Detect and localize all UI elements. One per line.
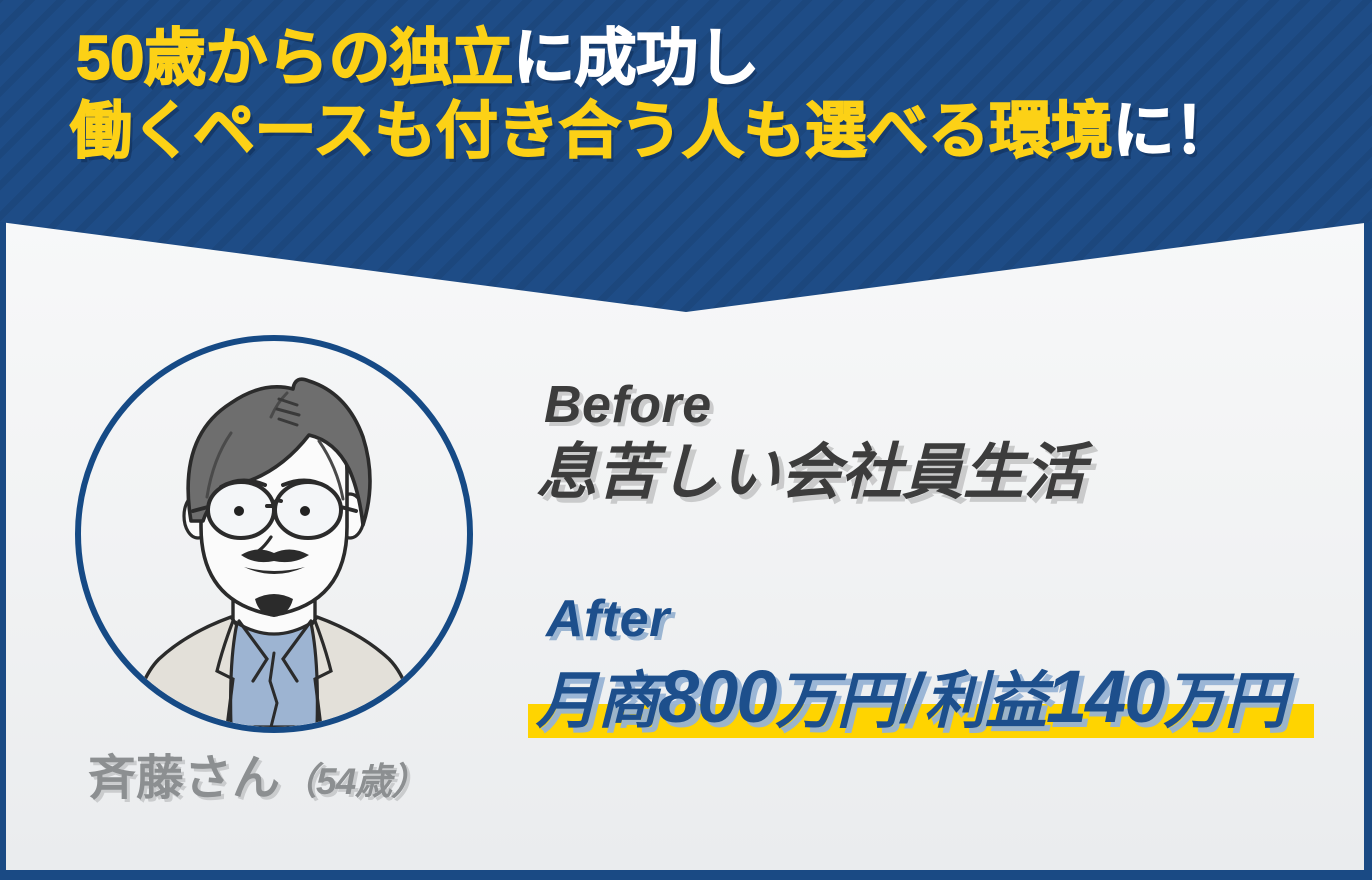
title-line-2: 働くペースも付き合う人も選べる環境に！ <box>70 95 1235 168</box>
page-title: 50歳からの独立に成功し 働くペースも付き合う人も選べる環境に！ <box>76 22 1235 168</box>
after-unit-2: 万円 <box>1163 667 1285 736</box>
after-prefix-2: 利益 <box>924 667 1046 736</box>
after-separator: / <box>898 659 924 737</box>
before-description: 息苦しい会社員生活 <box>536 437 1085 509</box>
after-block: After 月商800万円/利益140万円 <box>536 592 1285 740</box>
person-portrait-illustration <box>81 341 467 727</box>
avatar-circle-frame <box>75 335 473 733</box>
before-label: Before <box>536 378 1085 433</box>
after-value-1: 800 <box>658 655 775 738</box>
person-age-text: （54歳） <box>280 761 427 802</box>
title-line-2-highlight: 働くペースも付き合う人も選べる環境 <box>70 97 1112 166</box>
person-name-caption: 斉藤さん（54歳） <box>88 738 427 808</box>
after-figure-row: 月商800万円/利益140万円 <box>536 653 1285 740</box>
title-line-1-highlight: 50歳からの独立 <box>76 24 513 93</box>
title-line-1: 50歳からの独立に成功し <box>76 22 1235 95</box>
before-block: Before 息苦しい会社員生活 <box>536 378 1085 509</box>
person-name-text: 斉藤さん <box>88 752 280 805</box>
after-value-2: 140 <box>1046 655 1163 738</box>
after-unit-1: 万円 <box>775 667 897 736</box>
title-line-2-rest: に！ <box>1112 97 1235 166</box>
slide-root: 50歳からの独立に成功し 働くペースも付き合う人も選べる環境に！ <box>0 0 1372 880</box>
after-prefix-1: 月商 <box>536 667 658 736</box>
after-figures: 月商800万円/利益140万円 <box>536 653 1285 740</box>
after-label: After <box>536 592 1285 647</box>
title-line-1-rest: に成功し <box>513 24 759 93</box>
avatar <box>75 335 473 723</box>
